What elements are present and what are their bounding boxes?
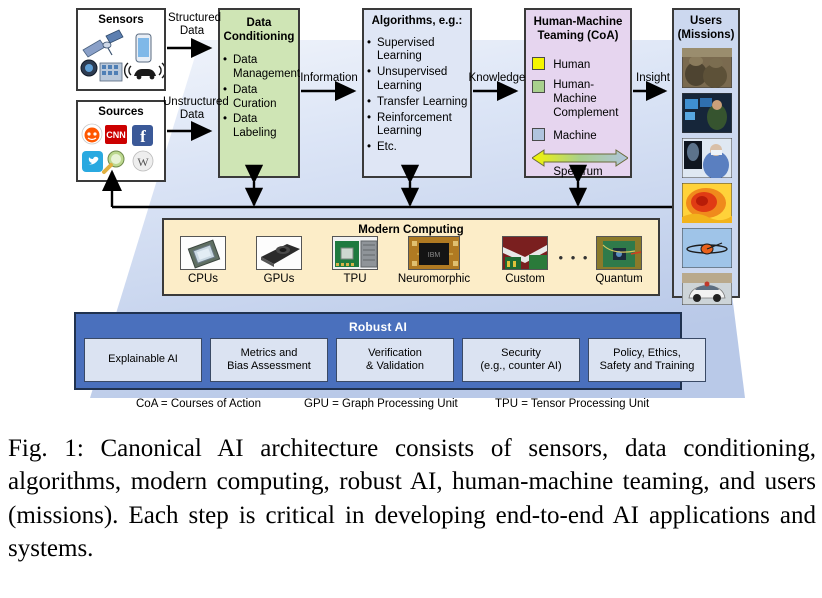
users-title-line1: Users <box>690 15 722 27</box>
satellite-icon <box>83 30 123 57</box>
hmt-legend-machine-label: Machine <box>553 130 596 142</box>
hmt-legend-machine: Machine <box>532 128 632 142</box>
drone-photo <box>682 228 732 268</box>
building-icon <box>100 63 122 81</box>
label-insight: Insight <box>633 72 673 85</box>
hmt-title-line1: Human-Machine <box>534 16 623 28</box>
modern-computing-label-cpus: CPUs <box>172 273 234 285</box>
modern-computing-item-neuromorphic: IBM Neuromorphic <box>392 236 476 285</box>
robust-cell-l2: Bias Assessment <box>227 360 311 372</box>
algorithms-item: Reinforcement Learning <box>377 112 470 140</box>
robust-ai-cell-explainable: Explainable AI <box>84 338 202 382</box>
data-conditioning-title-line1: Data <box>247 17 272 29</box>
machine-swatch-icon <box>532 128 545 141</box>
spectrum-label: Spectrum <box>526 166 630 178</box>
tpu-board-photo <box>332 236 378 270</box>
human-machine-teaming-box: Human-Machine Teaming (CoA) Human Human-… <box>524 8 632 178</box>
label-structured-data: Structured Data <box>168 12 216 39</box>
cpu-chip-photo <box>180 236 226 270</box>
data-conditioning-title-line2: Conditioning <box>224 31 295 43</box>
hmt-legend-human-label: Human <box>553 59 590 71</box>
sources-box: Sources CNN f <box>76 100 166 182</box>
hmt-legend-complement-l2: Machine <box>553 93 596 105</box>
robust-ai-cell-policy: Policy, Ethics, Safety and Training <box>588 338 706 382</box>
cnn-icon: CNN <box>105 125 127 144</box>
spectrum-arrow-icon <box>532 148 628 168</box>
complement-swatch-icon <box>532 80 545 93</box>
sources-icons: CNN f W <box>78 121 164 179</box>
soldiers-photo <box>682 48 732 88</box>
hmt-legend-complement-l1: Human- <box>553 79 594 91</box>
svg-text:f: f <box>140 127 146 146</box>
algorithms-item: Transfer Learning <box>377 96 470 110</box>
camera-icon <box>81 60 97 76</box>
self-driving-car-photo <box>682 273 732 305</box>
label-knowledge: Knowledge <box>468 72 526 85</box>
svg-text:IBM: IBM <box>428 252 441 259</box>
svg-text:CNN: CNN <box>106 130 126 140</box>
modern-computing-item-custom: Custom <box>494 236 556 285</box>
label-unstructured-data: Unstructured Data <box>163 96 221 123</box>
modern-computing-label-gpus: GPUs <box>248 273 310 285</box>
wikipedia-icon: W <box>133 151 153 171</box>
footnote-gpu: GPU = Graph Processing Unit <box>304 398 458 410</box>
weather-map-photo <box>682 183 732 223</box>
robust-cell-l2: Safety and Training <box>600 360 695 372</box>
data-conditioning-box: Data Conditioning Data Management Data C… <box>218 8 300 178</box>
reddit-icon <box>82 124 102 144</box>
modern-computing-item-cpus: CPUs <box>172 236 234 285</box>
modern-computing-ellipsis: • • • <box>556 250 592 265</box>
figure-caption: Fig. 1: Canonical AI architecture consis… <box>8 432 816 565</box>
neuromorphic-chip-photo: IBM <box>408 236 460 270</box>
users-box: Users (Missions) <box>672 8 740 298</box>
twitter-icon <box>82 151 103 172</box>
label-unstructured-l1: Unstructured <box>163 96 229 108</box>
modern-computing-label-custom: Custom <box>494 273 556 285</box>
quantum-chip-photo <box>596 236 642 270</box>
data-conditioning-item: Data Curation <box>233 84 298 112</box>
label-information: Information <box>300 72 358 85</box>
footnote-coa: CoA = Courses of Action <box>136 398 261 410</box>
algorithms-title: Algorithms, e.g.: <box>364 10 470 29</box>
modern-computing-item-gpus: GPUs <box>248 236 310 285</box>
hmt-legend-complement-l3: Complement <box>553 107 618 119</box>
search-icon <box>104 151 124 172</box>
robust-cell-l2: (e.g., counter AI) <box>480 360 561 372</box>
robust-cell-l2: & Validation <box>366 360 424 372</box>
custom-hardware-photo <box>502 236 548 270</box>
gpu-card-photo <box>256 236 302 270</box>
label-structured-l1: Structured <box>168 12 221 24</box>
modern-computing-label-neuromorphic: Neuromorphic <box>392 273 476 285</box>
human-swatch-icon <box>532 57 545 70</box>
sensors-box: Sensors <box>76 8 166 91</box>
connected-car-icon <box>125 63 164 79</box>
smartphone-icon <box>136 34 151 62</box>
sources-title: Sources <box>78 102 164 119</box>
figure-canvas: Sensors <box>0 0 822 420</box>
algorithms-box: Algorithms, e.g.: Supervised Learning Un… <box>362 8 472 178</box>
robust-ai-cell-metrics: Metrics and Bias Assessment <box>210 338 328 382</box>
robust-cell-l1: Verification <box>368 347 422 359</box>
facebook-icon: f <box>132 125 153 146</box>
robust-cell-l1: Explainable AI <box>108 353 178 365</box>
algorithms-item: Unsupervised Learning <box>377 66 470 94</box>
users-title-line2: (Missions) <box>678 29 735 41</box>
modern-computing-title: Modern Computing <box>164 220 658 236</box>
algorithms-item: Etc. <box>377 141 470 155</box>
data-conditioning-item: Data Labeling <box>233 113 298 141</box>
command-center-photo <box>682 93 732 133</box>
robust-cell-l1: Security <box>501 347 541 359</box>
modern-computing-label-tpu: TPU <box>324 273 386 285</box>
robust-cell-l1: Policy, Ethics, <box>613 347 681 359</box>
robust-ai-title: Robust AI <box>76 314 680 334</box>
modern-computing-label-quantum: Quantum <box>588 273 650 285</box>
algorithms-item: Supervised Learning <box>377 37 470 65</box>
sensors-icons <box>78 28 164 86</box>
hmt-legend-complement: Human- Machine Complement <box>532 79 632 120</box>
hmt-title-line2: Teaming (CoA) <box>538 30 619 42</box>
label-unstructured-l2: Data <box>180 109 204 121</box>
svg-text:W: W <box>137 155 149 169</box>
robust-cell-l1: Metrics and <box>241 347 298 359</box>
label-structured-l2: Data <box>180 25 204 37</box>
data-conditioning-item: Data Management <box>233 54 298 82</box>
robust-ai-cell-verification: Verification & Validation <box>336 338 454 382</box>
modern-computing-item-tpu: TPU <box>324 236 386 285</box>
robust-ai-cell-security: Security (e.g., counter AI) <box>462 338 580 382</box>
sensors-title: Sensors <box>78 10 164 27</box>
modern-computing-item-quantum: Quantum <box>588 236 650 285</box>
footnote-tpu: TPU = Tensor Processing Unit <box>495 398 649 410</box>
hmt-legend-human: Human <box>532 57 632 71</box>
medical-imaging-photo <box>682 138 732 178</box>
